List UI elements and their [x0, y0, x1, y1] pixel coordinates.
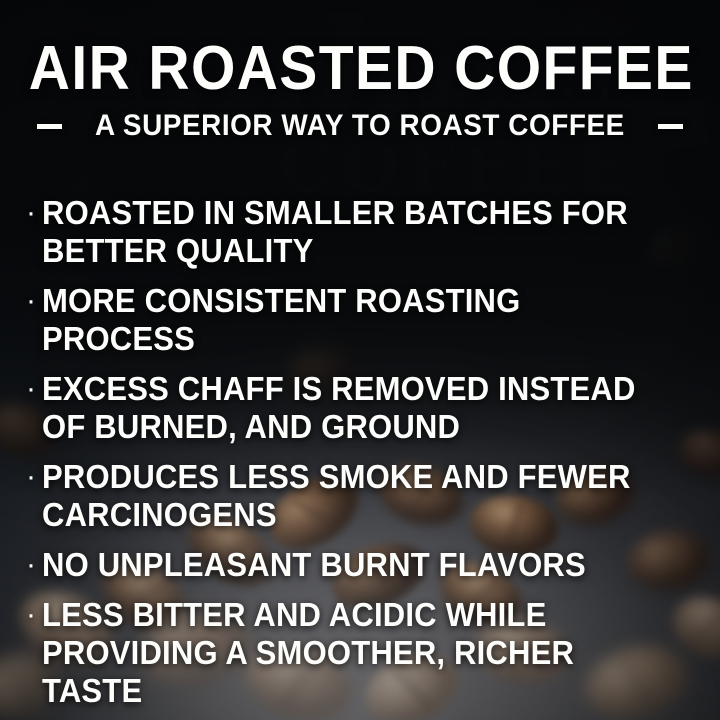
page-title: AIR ROASTED COFFEE — [29, 38, 691, 100]
benefits-list: · ROASTED IN SMALLER BATCHES FOR BETTER … — [26, 194, 706, 720]
list-item-label: ROASTED IN SMALLER BATCHES FOR BETTER QU… — [42, 194, 666, 270]
list-item-label: EXCESS CHAFF IS REMOVED INSTEAD OF BURNE… — [42, 370, 666, 446]
bullet-dot-icon: · — [26, 596, 42, 634]
dash-right-icon — [658, 124, 683, 129]
list-item-label: MORE CONSISTENT ROASTING PROCESS — [42, 282, 666, 358]
list-item: · PRODUCES LESS SMOKE AND FEWER CARCINOG… — [26, 458, 706, 534]
dash-left-icon — [37, 124, 62, 129]
bullet-dot-icon: · — [26, 458, 42, 496]
list-item-label: LESS BITTER AND ACIDIC WHILE PROVIDING A… — [42, 596, 666, 710]
page-subtitle: A SUPERIOR WAY TO ROAST COFFEE — [95, 111, 625, 141]
list-item-label: PRODUCES LESS SMOKE AND FEWER CARCINOGEN… — [42, 458, 666, 534]
subtitle-row: A SUPERIOR WAY TO ROAST COFFEE — [0, 111, 720, 141]
bullet-dot-icon: · — [26, 546, 42, 584]
heading-block: AIR ROASTED COFFEE A SUPERIOR WAY TO ROA… — [0, 38, 720, 141]
bullet-dot-icon: · — [26, 370, 42, 408]
list-item: · MORE CONSISTENT ROASTING PROCESS — [26, 282, 706, 358]
bullet-dot-icon: · — [26, 282, 42, 320]
list-item-label: NO UNPLEASANT BURNT FLAVORS — [42, 546, 586, 584]
list-item: · NO UNPLEASANT BURNT FLAVORS — [26, 546, 706, 584]
list-item: · LESS BITTER AND ACIDIC WHILE PROVIDING… — [26, 596, 706, 710]
list-item: · EXCESS CHAFF IS REMOVED INSTEAD OF BUR… — [26, 370, 706, 446]
list-item: · ROASTED IN SMALLER BATCHES FOR BETTER … — [26, 194, 706, 270]
bullet-dot-icon: · — [26, 194, 42, 232]
coffee-infographic-poster: Amber COFFEE AIR ROASTED COFFEE — [0, 0, 720, 720]
